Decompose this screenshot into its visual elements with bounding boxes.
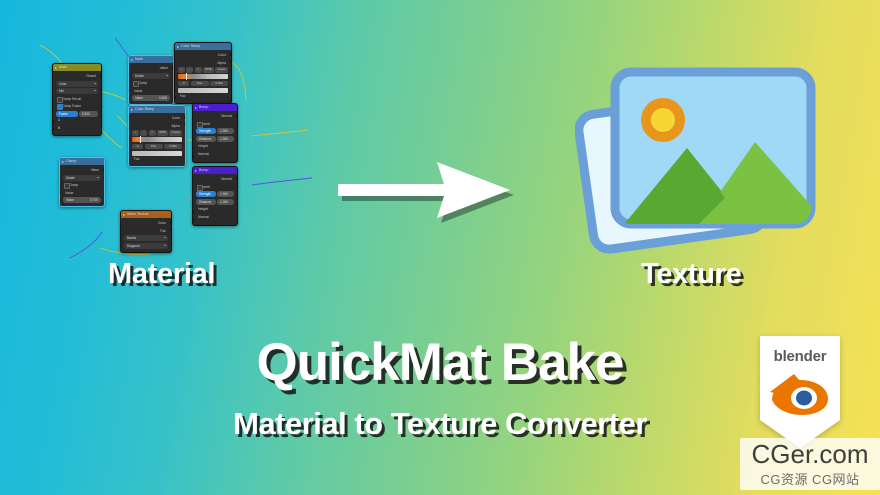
node-ramp-gradient[interactable]	[132, 137, 182, 142]
socket-normal-out[interactable]	[236, 114, 238, 117]
node-field-value-label: Value	[66, 198, 74, 202]
node-field-color[interactable]: Color	[56, 81, 98, 87]
node-ramp-toolbar[interactable]: + - v RGB Linear	[178, 67, 228, 73]
socket-normal-out[interactable]	[236, 177, 238, 180]
node-header[interactable]: Color Ramp	[129, 106, 185, 113]
socket-normal-in[interactable]	[192, 155, 194, 158]
node-checkbox-clamp-result[interactable]: Clamp Result	[56, 96, 98, 102]
ramp-add-button[interactable]: +	[132, 130, 139, 136]
node-bump-bottom[interactable]: Bump Normal Invert Strength 1.000 Distan…	[192, 166, 238, 226]
ramp-remove-button[interactable]: -	[140, 130, 147, 136]
node-color-ramp-top[interactable]: Color Ramp Color Alpha + - v RGB Linear …	[174, 42, 232, 104]
ramp-menu-button[interactable]: v	[195, 67, 202, 73]
node-wave-texture[interactable]: Wave Texture Color Fac Bands Diagonal	[120, 210, 172, 253]
ramp-add-button[interactable]: +	[178, 67, 185, 73]
node-input-fac[interactable]: Fac	[132, 156, 182, 162]
image-front-card	[615, 72, 815, 230]
node-input-value[interactable]: Value	[132, 88, 170, 94]
node-output-alpha[interactable]: Alpha	[178, 60, 228, 66]
ramp-interp-button[interactable]: Linear	[215, 67, 228, 73]
node-input-height[interactable]: Height	[196, 206, 234, 212]
image-stack-icon	[575, 58, 825, 258]
node-checkbox-invert[interactable]: Invert	[196, 184, 234, 190]
page-subtitle: Material to Texture Converter	[0, 406, 880, 442]
cger-site-name: CGer.com	[740, 439, 880, 470]
blender-node-editor: Math Result Color Mix Clamp Result Clamp…	[40, 18, 330, 278]
node-input-a[interactable]: A	[56, 117, 98, 123]
node-output-fac[interactable]: Fac	[124, 228, 168, 234]
node-field-strength-value[interactable]: 1.000	[217, 128, 234, 134]
ramp-mode-button[interactable]: RGB	[203, 67, 214, 73]
node-ramp-gradient[interactable]	[178, 74, 228, 79]
node-input-normal[interactable]: Normal	[196, 214, 234, 220]
node-output-value[interactable]: Value	[132, 65, 170, 71]
label-texture: Texture	[641, 258, 742, 291]
socket-height-in[interactable]	[192, 147, 194, 150]
node-checkbox-clamp[interactable]: Clamp	[63, 182, 101, 188]
ramp-stop-index[interactable]: 0	[132, 144, 143, 150]
node-field-mix[interactable]: Mix	[56, 88, 98, 94]
node-ramp-stop-row[interactable]: 0 Pos 0.000	[178, 81, 228, 87]
cger-watermark: CGer.com CG资源 CG网站	[740, 438, 880, 490]
blender-badge: blender	[752, 336, 848, 448]
node-header[interactable]: Math	[53, 64, 101, 71]
node-field-distance-value[interactable]: 1.000	[217, 199, 234, 205]
node-ramp-toolbar[interactable]: + - v RGB Linear	[132, 130, 182, 136]
node-field-bands[interactable]: Bands	[124, 235, 168, 241]
node-bump-top[interactable]: Bump Normal Invert Strength 1.000 Distan…	[192, 103, 238, 163]
node-field-diagonal[interactable]: Diagonal	[124, 243, 168, 249]
ramp-stop-pos-label[interactable]: Pos	[191, 81, 209, 87]
ramp-menu-button[interactable]: v	[149, 130, 156, 136]
socket-color-out[interactable]	[230, 53, 232, 56]
ramp-mode-button[interactable]: RGB	[157, 130, 168, 136]
ramp-stop-pos-label[interactable]: Pos	[145, 144, 163, 150]
node-output-color[interactable]: Color	[124, 220, 168, 226]
blender-wordmark: blender	[752, 348, 848, 365]
node-output-result[interactable]: Result	[56, 73, 98, 79]
node-input-fac[interactable]: Fac	[178, 93, 228, 99]
node-output-alpha[interactable]: Alpha	[132, 123, 182, 129]
node-output-normal[interactable]: Normal	[196, 176, 234, 182]
node-header[interactable]: Color Ramp	[175, 43, 231, 50]
cger-tagline: CG资源 CG网站	[740, 469, 880, 488]
node-header[interactable]: Clamp	[60, 158, 104, 165]
node-header[interactable]: Wave Texture	[121, 211, 171, 218]
node-field-value-number: 0.500	[159, 95, 167, 101]
node-clamp[interactable]: Clamp Value Divide Clamp Value Value 0.7…	[59, 157, 105, 207]
node-ramp-stop-row[interactable]: 0 Pos 0.000	[132, 144, 182, 150]
node-field-value-number: 0.700	[90, 197, 98, 203]
socket-value-out[interactable]	[103, 168, 105, 171]
node-field-distance-value[interactable]: 1.000	[217, 136, 234, 142]
right-arrow	[338, 158, 518, 226]
blender-logo-icon	[768, 370, 832, 416]
socket-normal-in[interactable]	[192, 218, 194, 221]
ramp-stop-pos-value[interactable]: 0.000	[210, 81, 228, 87]
socket-result[interactable]	[100, 74, 102, 77]
node-field-divide[interactable]: Divide	[132, 73, 170, 79]
node-output-color[interactable]: Color	[178, 52, 228, 58]
node-checkbox-invert[interactable]: Invert	[196, 121, 234, 127]
node-input-height[interactable]: Height	[196, 143, 234, 149]
label-material: Material	[108, 258, 215, 291]
node-field-divide[interactable]: Divide	[63, 175, 101, 181]
node-output-color[interactable]: Color	[132, 115, 182, 121]
socket-height-in[interactable]	[192, 210, 194, 213]
socket-alpha-out[interactable]	[230, 60, 232, 63]
node-checkbox-clamp-factor[interactable]: Clamp Factor	[56, 103, 98, 109]
node-field-distance-label[interactable]: Distance	[196, 199, 216, 205]
node-input-normal[interactable]: Normal	[196, 151, 234, 157]
node-math-divide[interactable]: Math Value Divide Clamp Value Value 0.50…	[128, 55, 174, 105]
socket-color-out[interactable]	[184, 116, 186, 119]
node-field-value-label: Value	[135, 96, 143, 100]
node-color-ramp-mid[interactable]: Color Ramp Color Alpha + - v RGB Linear …	[128, 105, 186, 167]
socket-color-out[interactable]	[170, 221, 172, 224]
node-output-value[interactable]: Value	[63, 167, 101, 173]
node-input-b[interactable]: B	[56, 125, 98, 131]
node-header[interactable]: Math	[129, 56, 173, 63]
ramp-stop-index[interactable]: 0	[178, 81, 189, 87]
node-input-value[interactable]: Value	[63, 190, 101, 196]
node-checkbox-clamp[interactable]: Clamp	[132, 80, 170, 86]
node-field-value[interactable]: Value 0.500	[132, 95, 170, 101]
node-output-normal[interactable]: Normal	[196, 113, 234, 119]
ramp-interp-button[interactable]: Linear	[169, 130, 182, 136]
node-field-value[interactable]: Value 0.700	[63, 197, 101, 203]
node-field-distance-label[interactable]: Distance	[196, 136, 216, 142]
node-math-multiply[interactable]: Math Result Color Mix Clamp Result Clamp…	[52, 63, 102, 136]
node-field-strength-label[interactable]: Strength	[196, 191, 216, 197]
page-title: QuickMat Bake	[0, 332, 880, 393]
node-field-strength-value[interactable]: 1.000	[217, 191, 234, 197]
ramp-stop-pos-value[interactable]: 0.000	[164, 144, 182, 150]
node-field-strength-label[interactable]: Strength	[196, 128, 216, 134]
socket-alpha-out[interactable]	[184, 123, 186, 126]
socket-fac-out[interactable]	[170, 228, 172, 231]
ramp-remove-button[interactable]: -	[186, 67, 193, 73]
node-header[interactable]: Bump	[193, 104, 237, 111]
node-header[interactable]: Bump	[193, 167, 237, 174]
